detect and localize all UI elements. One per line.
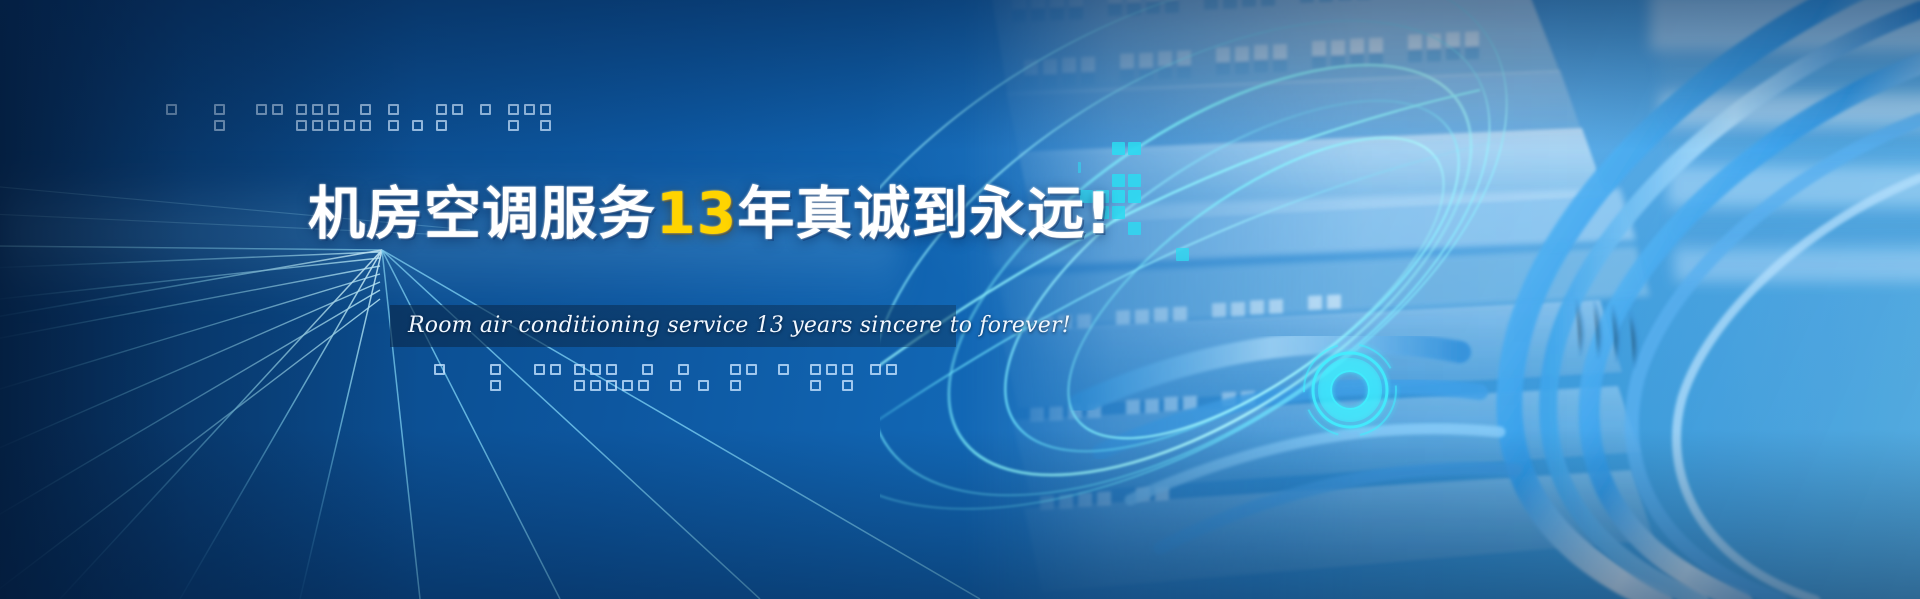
banner-headline: 机房空调服务13年真诚到永远! xyxy=(308,168,1112,250)
headline-text-after: 年真诚到永远! xyxy=(737,181,1112,247)
hud-ring-icon xyxy=(1298,338,1402,442)
bottom-vignette xyxy=(0,429,1920,599)
headline-text-before: 机房空调服务 xyxy=(308,181,656,247)
hero-banner: 机房空调服务13年真诚到永远! Room air conditioning se… xyxy=(0,0,1920,599)
headline-highlight-years: 13 xyxy=(656,181,737,247)
top-vignette xyxy=(0,0,1920,150)
banner-subtitle: Room air conditioning service 13 years s… xyxy=(408,311,948,341)
